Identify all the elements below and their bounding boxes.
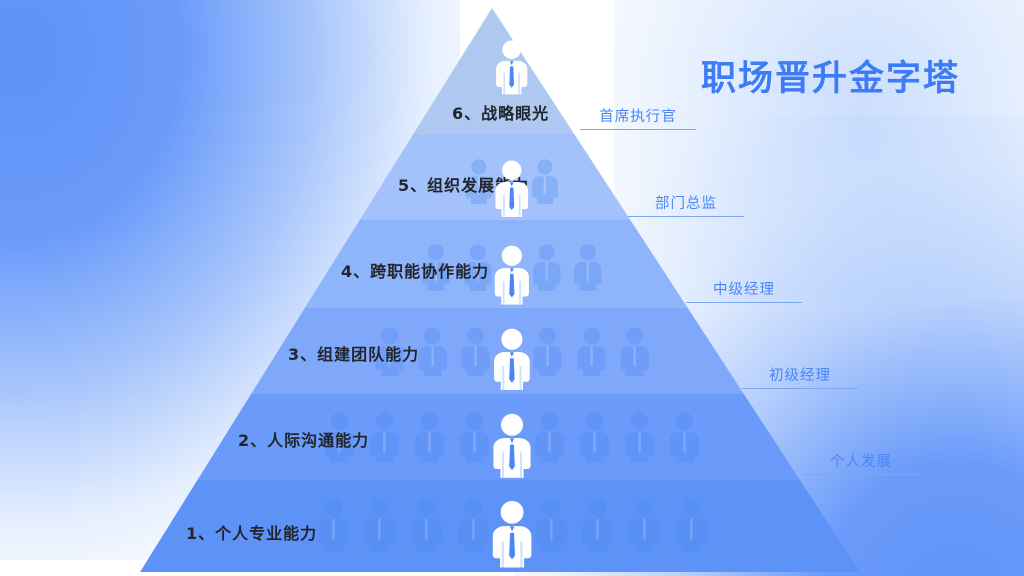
- person-silhouette-icon: [622, 497, 667, 552]
- role-label-level-6[interactable]: 首席执行官: [580, 105, 696, 130]
- person-filled-icon: [486, 327, 538, 390]
- person-filled-icon: [485, 412, 539, 478]
- person-silhouette-icon: [571, 326, 612, 376]
- role-label-level-3[interactable]: 初级经理: [742, 364, 858, 389]
- role-label-level-5[interactable]: 部门总监: [628, 192, 744, 217]
- role-label-text-2: 个人发展: [803, 450, 919, 474]
- person-silhouette-icon: [404, 497, 449, 552]
- role-label-level-4[interactable]: 中级经理: [686, 278, 802, 303]
- person-filled-icon: [484, 499, 540, 568]
- role-label-underline-4: [686, 302, 802, 303]
- role-label-level-2[interactable]: 个人发展: [803, 450, 919, 475]
- level-caption-3: 3、组建团队能力: [288, 341, 419, 365]
- person-silhouette-icon: [663, 411, 706, 463]
- people-group-level-4: [0, 245, 1024, 305]
- role-label-text-6: 首席执行官: [580, 105, 696, 129]
- role-label-underline-6: [580, 129, 696, 130]
- level-caption-4: 4、跨职能协作能力: [341, 258, 489, 282]
- person-silhouette-icon: [618, 411, 661, 463]
- people-group-level-1: [0, 500, 1024, 568]
- person-filled-icon: [488, 159, 536, 217]
- person-silhouette-icon: [363, 411, 406, 463]
- role-label-underline-5: [628, 216, 744, 217]
- pyramid-chart: 6、战略眼光首席执行官5、组织发展能力部门总监4、跨职能协作能力中级经理3、组建…: [0, 0, 1024, 576]
- person-silhouette-icon: [311, 497, 356, 552]
- role-label-text-3: 初级经理: [742, 364, 858, 388]
- role-label-underline-2: [803, 474, 919, 475]
- people-group-level-5: [0, 160, 1024, 217]
- level-caption-6: 6、战略眼光: [452, 100, 549, 124]
- slide-canvas: 职场晋升金字塔 6、战略眼光首席执行官5、组织发展能力部门总监4、跨职能协作能力…: [0, 0, 1024, 576]
- person-silhouette-icon: [568, 243, 608, 291]
- people-group-level-3: [0, 328, 1024, 390]
- person-silhouette-icon: [408, 411, 451, 463]
- level-caption-1: 1、个人专业能力: [186, 520, 317, 544]
- role-label-text-4: 中级经理: [686, 278, 802, 302]
- person-silhouette-icon: [669, 497, 714, 552]
- people-group-level-6: [0, 40, 1024, 95]
- person-filled-icon: [489, 39, 534, 94]
- role-label-text-5: 部门总监: [628, 192, 744, 216]
- person-silhouette-icon: [575, 497, 620, 552]
- level-caption-2: 2、人际沟通能力: [238, 427, 369, 451]
- person-filled-icon: [487, 244, 537, 305]
- person-silhouette-icon: [614, 326, 655, 376]
- role-label-underline-3: [742, 388, 858, 389]
- person-silhouette-icon: [357, 497, 402, 552]
- person-silhouette-icon: [573, 411, 616, 463]
